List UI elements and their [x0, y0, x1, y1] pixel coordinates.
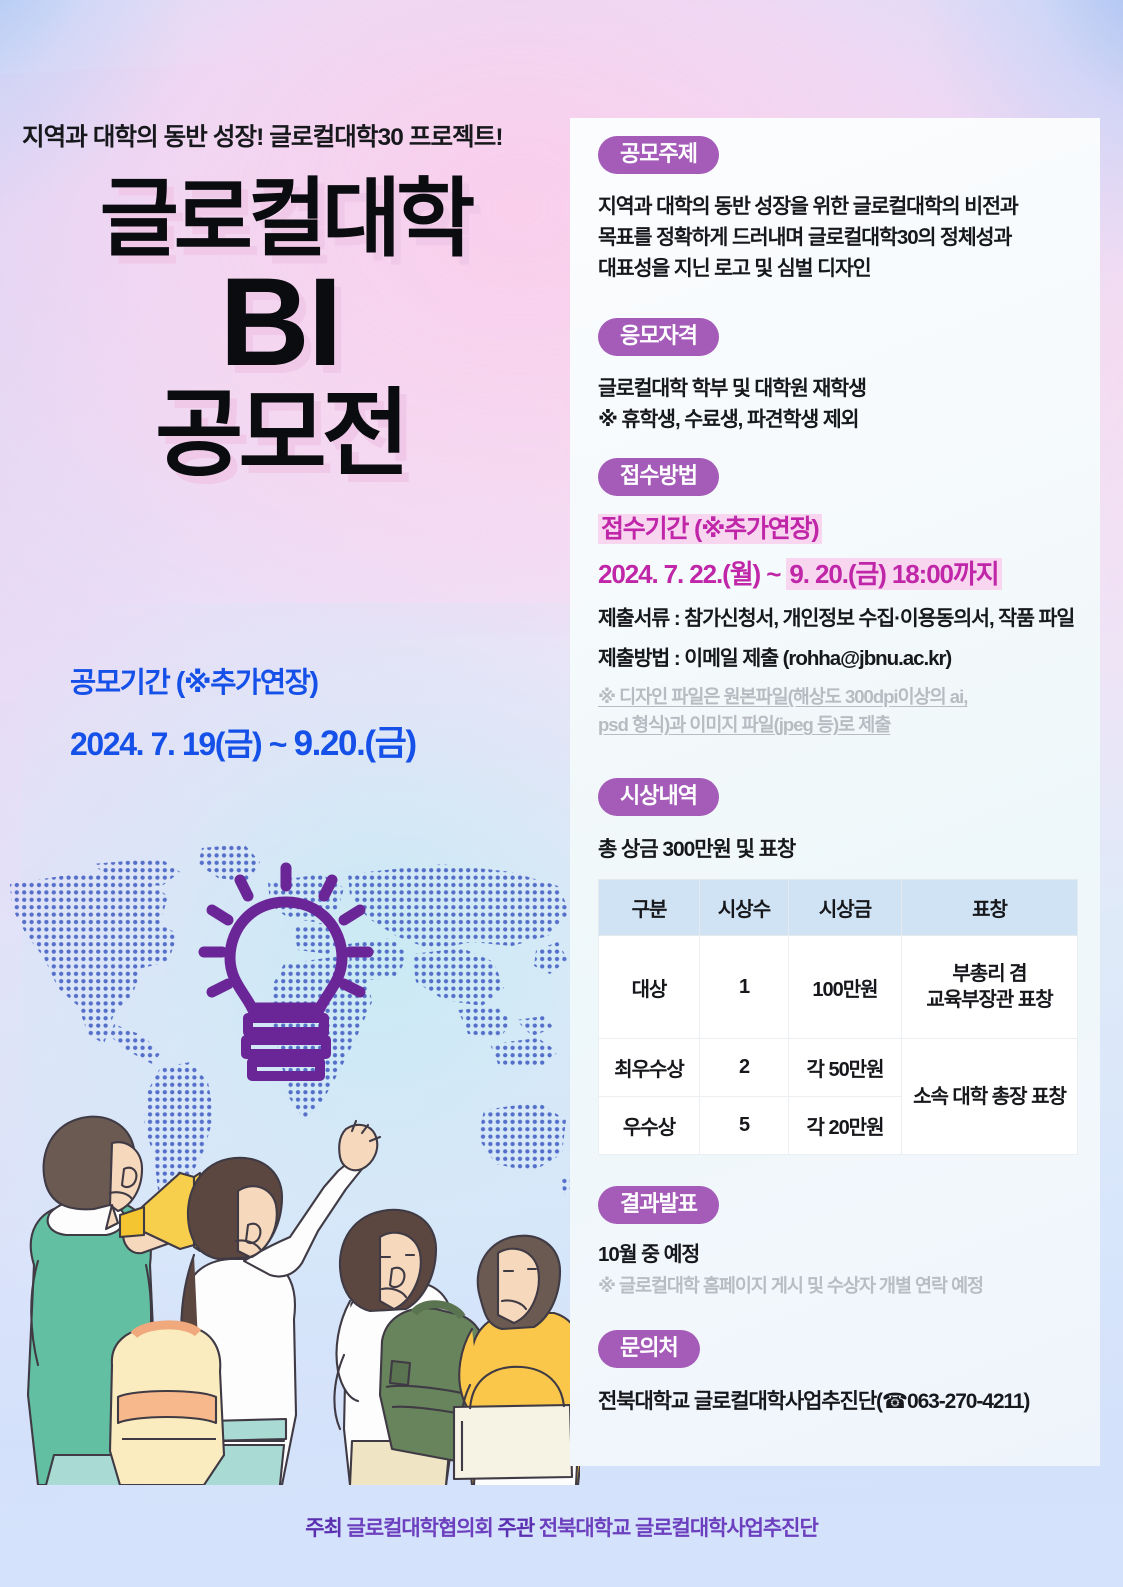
result-line: 10월 중 예정 [598, 1239, 1123, 1270]
contact-line: 전북대학교 글로컬대학사업추진단(☎063-270-4211) [598, 1385, 1123, 1415]
award-citation: 부총리 겸 교육부장관 표창 [902, 936, 1078, 1039]
section-apply-pill: 접수방법 [598, 458, 719, 496]
contest-period-value: 2024. 7. 19(금) ~ 9.20.(금) [70, 715, 416, 766]
section-awards: 시상내역 총 상금 300만원 및 표창 구분 시상수 시상금 표창 대상 1 … [570, 778, 1123, 1155]
result-note: ※ 글로컬대학 홈페이지 게시 및 수상자 개별 연락 예정 [598, 1272, 1123, 1300]
page-title: 글로컬대학 BI 공모전 [0, 178, 560, 481]
info-panel: 공모주제 지역과 대학의 동반 성장을 위한 글로컬대학의 비전과 목표를 정확… [570, 118, 1100, 1466]
awards-th-citation: 표창 [902, 880, 1078, 936]
award-grade: 우수상 [599, 1097, 700, 1155]
footer-organizer-value: 전북대학교 글로컬대학사업추진단 [534, 1517, 818, 1540]
lightbulb-icon [196, 860, 376, 1090]
awards-th-prize: 시상금 [789, 880, 902, 936]
section-topic-pill: 공모주제 [598, 136, 719, 174]
apply-method: 제출방법 : 이메일 제출 (rohha@jbnu.ac.kr) [598, 644, 1123, 675]
period-end: 9.20.(금) [294, 724, 416, 763]
footer-host-value: 글로컬대학협의회 [342, 1517, 498, 1540]
section-eligibility-body: 글로컬대학 학부 및 대학원 재학생 ※ 휴학생, 수료생, 파견학생 제외 [598, 373, 1123, 435]
topic-line-3: 대표성을 지닌 로고 및 심벌 디자인 [598, 253, 1123, 284]
deadline-label: 접수기간 (※추가연장) [598, 513, 1123, 547]
deadline-label-text: 접수기간 (※추가연장) [598, 514, 822, 544]
deadline-start: 2024. 7. 22.(월) ~ [598, 559, 786, 589]
apply-note-line-2: psd 형식)과 이미지 파일(jpeg 등)로 제출 [598, 711, 1123, 739]
title-line-3: 공모전 [0, 389, 560, 481]
deadline-end: 9. 20.(금) 18:00까지 [786, 558, 1001, 590]
section-topic-body: 지역과 대학의 동반 성장을 위한 글로컬대학의 비전과 목표를 정확하게 드러… [598, 191, 1123, 284]
poster-footer: 주최 글로컬대학협의회 주관 전북대학교 글로컬대학사업추진단 [0, 1512, 1123, 1542]
award-prize: 100만원 [789, 936, 902, 1039]
section-contact: 문의처 전북대학교 글로컬대학사업추진단(☎063-270-4211) [570, 1330, 1123, 1415]
award-prize: 각 50만원 [789, 1039, 902, 1097]
awards-total: 총 상금 300만원 및 표창 [598, 833, 1123, 863]
left-column: 지역과 대학의 동반 성장! 글로컬대학30 프로젝트! 글로컬대학 BI 공모… [0, 0, 574, 1587]
topic-line-2: 목표를 정확하게 드러내며 글로컬대학30의 정체성과 [598, 222, 1123, 253]
period-start: 2024. 7. 19(금) ~ [70, 726, 294, 762]
section-awards-pill: 시상내역 [598, 778, 719, 816]
title-line-2: BI [0, 263, 560, 383]
award-count: 5 [700, 1097, 789, 1155]
section-eligibility-pill: 응모자격 [598, 318, 719, 356]
eligibility-line-2: ※ 휴학생, 수료생, 파견학생 제외 [598, 404, 1123, 435]
section-topic: 공모주제 지역과 대학의 동반 성장을 위한 글로컬대학의 비전과 목표를 정확… [570, 136, 1123, 284]
table-row: 최우수상 2 각 50만원 소속 대학 총장 표창 [599, 1039, 1078, 1097]
award-prize: 각 20만원 [789, 1097, 902, 1155]
contest-period-label: 공모기간 (※추가연장) [70, 660, 416, 701]
awards-table: 구분 시상수 시상금 표창 대상 1 100만원 부총리 겸 교육부장관 표창 … [598, 879, 1078, 1155]
section-result: 결과발표 10월 중 예정 ※ 글로컬대학 홈페이지 게시 및 수상자 개별 연… [570, 1186, 1123, 1300]
award-grade: 대상 [599, 936, 700, 1039]
award-count: 1 [700, 936, 789, 1039]
topic-line-1: 지역과 대학의 동반 성장을 위한 글로컬대학의 비전과 [598, 191, 1123, 222]
apply-note-line-1: ※ 디자인 파일은 원본파일(해상도 300dpi이상의 ai, [598, 683, 1123, 711]
awards-th-count: 시상수 [700, 880, 789, 936]
section-eligibility: 응모자격 글로컬대학 학부 및 대학원 재학생 ※ 휴학생, 수료생, 파견학생… [570, 318, 1123, 435]
students-illustration [0, 1065, 580, 1485]
apply-documents: 제출서류 : 참가신청서, 개인정보 수집·이용동의서, 작품 파일 [598, 604, 1123, 635]
contest-period: 공모기간 (※추가연장) 2024. 7. 19(금) ~ 9.20.(금) [70, 660, 416, 766]
title-line-1: 글로컬대학 [10, 178, 560, 261]
section-result-pill: 결과발표 [598, 1186, 719, 1224]
section-contact-pill: 문의처 [598, 1330, 700, 1368]
section-apply: 접수방법 접수기간 (※추가연장) 2024. 7. 22.(월) ~ 9. 2… [570, 458, 1123, 739]
footer-organizer-label: 주관 [498, 1517, 535, 1540]
eligibility-line-1: 글로컬대학 학부 및 대학원 재학생 [598, 373, 1123, 404]
award-citation-merged: 소속 대학 총장 표창 [902, 1039, 1078, 1155]
poster-kicker: 지역과 대학의 동반 성장! 글로컬대학30 프로젝트! [22, 118, 503, 153]
table-row: 대상 1 100만원 부총리 겸 교육부장관 표창 [599, 936, 1078, 1039]
deadline-value: 2024. 7. 22.(월) ~ 9. 20.(금) 18:00까지 [598, 554, 1123, 591]
awards-th-grade: 구분 [599, 880, 700, 936]
award-grade: 최우수상 [599, 1039, 700, 1097]
footer-host-label: 주최 [305, 1517, 342, 1540]
poster-root: 지역과 대학의 동반 성장! 글로컬대학30 프로젝트! 글로컬대학 BI 공모… [0, 0, 1123, 1587]
awards-table-header-row: 구분 시상수 시상금 표창 [599, 880, 1078, 936]
award-count: 2 [700, 1039, 789, 1097]
